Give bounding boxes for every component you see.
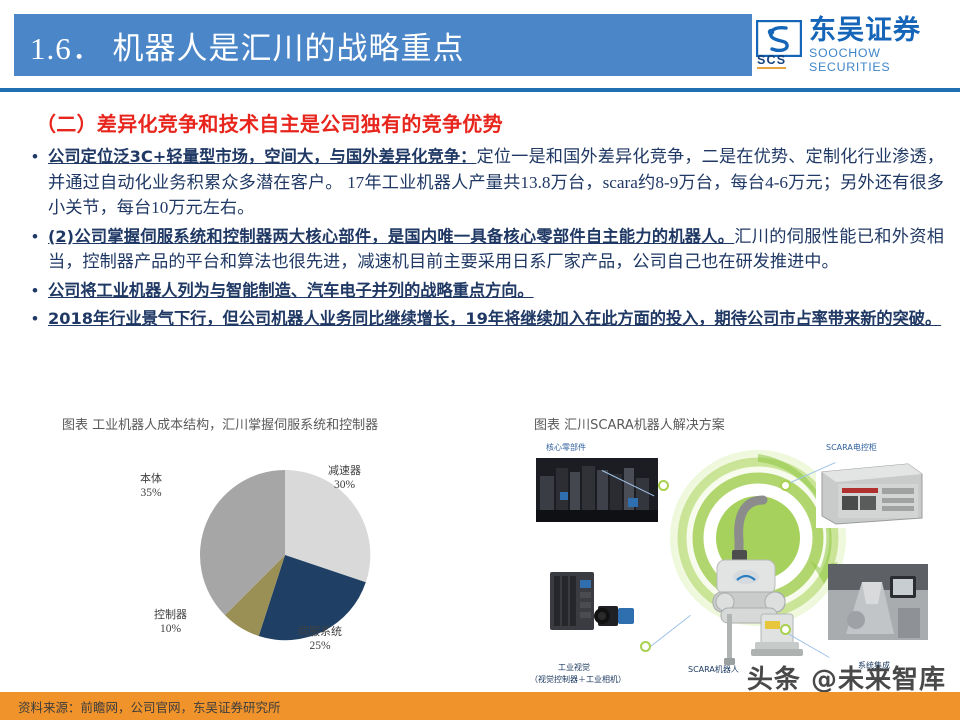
watermark-text: 未来智库 <box>838 665 946 695</box>
cabinet-image <box>816 458 928 528</box>
page-title: 1.6． 机器人是汇川的战略重点 <box>14 23 465 68</box>
bullet-strong: 公司将工业机器人列为与智能制造、汽车电子并列的战略重点方向。 <box>48 281 534 300</box>
bullet-marker: • <box>22 144 48 169</box>
pie-label-value: 30% <box>328 478 361 492</box>
connector-node-bottom-left <box>640 641 651 652</box>
label-scara-robot: SCARA机器人 <box>688 664 739 675</box>
scara-cabinet-photo <box>816 458 928 528</box>
header-divider <box>0 88 960 92</box>
pie-label-value: 25% <box>298 639 342 653</box>
bullet-strong: 2018年行业景气下行，但公司机器人业务同比继续增长，19年将继续加入在此方面的… <box>48 309 941 328</box>
pie-label-name: 控制器 <box>154 608 187 622</box>
pie-label-2: 控制器 10% <box>154 608 187 636</box>
swirl-icon <box>756 20 802 57</box>
pie-label-3: 本体 35% <box>140 472 162 500</box>
bullet-strong: 公司定位泛3C+轻量型市场，空间大，与国外差异化竞争： <box>48 147 477 166</box>
integration-image <box>828 564 928 640</box>
industrial-vision-photo <box>542 566 642 638</box>
scara-robot-graphic <box>703 494 823 679</box>
bullet-marker: • <box>22 278 48 303</box>
chart-caption-right: 图表 汇川SCARA机器人解决方案 <box>534 414 725 433</box>
company-logo: SCS 东吴证券 SOOCHOW SECURITIES <box>756 18 952 72</box>
bullet-marker: • <box>22 306 48 331</box>
scara-solution-illustration: 核心零部件 SCARA电控柜 工业视觉 （视觉控制器＋工业相机） SCARA机器… <box>528 436 952 690</box>
bullet-text: 公司将工业机器人列为与智能制造、汽车电子并列的战略重点方向。 <box>48 278 944 304</box>
label-industrial-vision: 工业视觉 <box>558 662 590 673</box>
label-core-components: 核心零部件 <box>546 442 586 453</box>
pie-chart: 减速器 30% 伺服系统 25% 控制器 10% 本体 35% <box>120 440 450 670</box>
bullet-marker: • <box>22 224 48 249</box>
connector-node-bottom-right <box>780 624 791 635</box>
caption-text: 图表 工业机器人成本结构，汇川掌握伺服系统和控制器 <box>62 414 378 433</box>
section-subtitle: （二）差异化竞争和技术自主是公司独有的竞争优势 <box>36 108 503 137</box>
watermark: 头条 @未来智库 <box>747 659 946 696</box>
logo-abbr: SCS <box>757 54 786 69</box>
vision-controller-image <box>542 566 642 638</box>
bullet-text: 公司定位泛3C+轻量型市场，空间大，与国外差异化竞争：定位一是和国外差异化竞争，… <box>48 144 944 221</box>
pie-label-name: 伺服系统 <box>298 625 342 639</box>
label-scara-cabinet: SCARA电控柜 <box>826 442 877 453</box>
bullet-text: (2)公司掌握伺服系统和控制器两大核心部件，是国内唯一具备核心零部件自主能力的机… <box>48 224 944 275</box>
bullet-text: 2018年行业景气下行，但公司机器人业务同比继续增长，19年将继续加入在此方面的… <box>48 306 944 332</box>
pie-label-value: 35% <box>140 486 162 500</box>
logo-mark: SCS <box>756 20 802 70</box>
list-item: • (2)公司掌握伺服系统和控制器两大核心部件，是国内唯一具备核心零部件自主能力… <box>22 224 944 275</box>
logo-name-en: SOOCHOW SECURITIES <box>809 46 952 74</box>
label-industrial-vision-detail: （视觉控制器＋工业相机） <box>530 674 626 685</box>
pie-label-name: 减速器 <box>328 464 361 478</box>
connector-node-top-left <box>658 480 669 491</box>
bullet-list: • 公司定位泛3C+轻量型市场，空间大，与国外差异化竞争：定位一是和国外差异化竞… <box>22 144 944 335</box>
watermark-prefix: 头条 @ <box>747 665 838 695</box>
source-text: 资料来源：前瞻网，公司官网，东吴证券研究所 <box>0 697 281 716</box>
core-components-photo <box>536 458 658 522</box>
connector-node-top-right <box>780 480 791 491</box>
bullet-strong: (2)公司掌握伺服系统和控制器两大核心部件，是国内唯一具备核心零部件自主能力的机… <box>48 227 734 246</box>
system-integration-photo <box>828 564 928 640</box>
slide: 1.6． 机器人是汇川的战略重点 SCS 东吴证券 SOOCHOW SECURI… <box>0 0 960 720</box>
list-item: • 公司定位泛3C+轻量型市场，空间大，与国外差异化竞争：定位一是和国外差异化竞… <box>22 144 944 221</box>
footer-bar: 资料来源：前瞻网，公司官网，东吴证券研究所 <box>0 692 960 720</box>
list-item: • 公司将工业机器人列为与智能制造、汽车电子并列的战略重点方向。 <box>22 278 944 304</box>
core-components-image <box>536 458 658 522</box>
list-item: • 2018年行业景气下行，但公司机器人业务同比继续增长，19年将继续加入在此方… <box>22 306 944 332</box>
logo-text: 东吴证券 SOOCHOW SECURITIES <box>809 17 952 74</box>
logo-name-cn: 东吴证券 <box>809 17 952 45</box>
chart-caption-left: 图表 工业机器人成本结构，汇川掌握伺服系统和控制器 <box>62 414 378 433</box>
pie-label-name: 本体 <box>140 472 162 486</box>
pie-label-value: 10% <box>154 622 187 636</box>
pie-label-0: 减速器 30% <box>328 464 361 492</box>
caption-text: 图表 汇川SCARA机器人解决方案 <box>534 414 725 433</box>
header-band: 1.6． 机器人是汇川的战略重点 <box>14 14 752 76</box>
pie-label-1: 伺服系统 25% <box>298 625 342 653</box>
